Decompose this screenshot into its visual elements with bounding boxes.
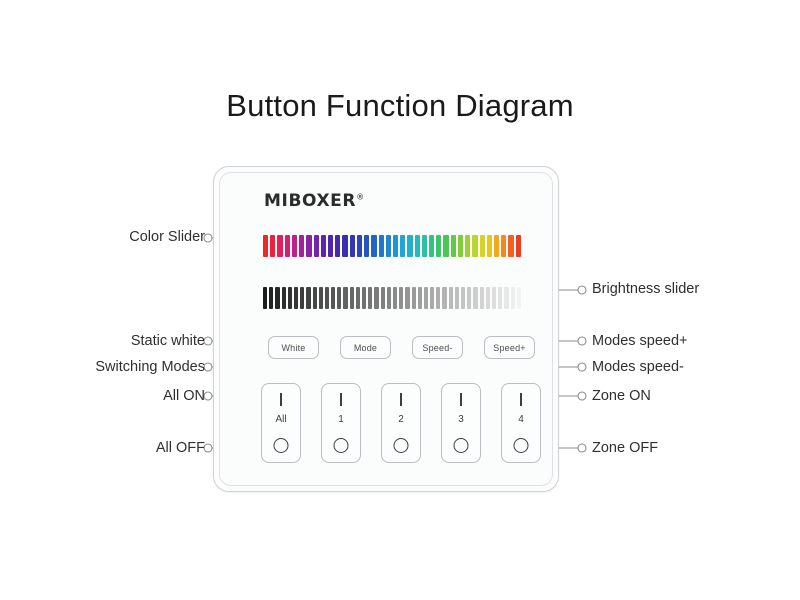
zone-button-all-label: All xyxy=(262,414,300,425)
color-slider-segment[interactable] xyxy=(494,235,499,257)
color-slider-segment[interactable] xyxy=(429,235,434,257)
brightness-slider-segment[interactable] xyxy=(517,287,521,309)
callout-modes-speed-plus: Modes speed+ xyxy=(592,333,688,349)
brightness-slider-segment[interactable] xyxy=(288,287,292,309)
brightness-slider-segment[interactable] xyxy=(313,287,317,309)
zone-button-4[interactable]: 4 xyxy=(501,383,541,463)
power-off-icon[interactable] xyxy=(274,438,289,453)
brightness-slider-segment[interactable] xyxy=(319,287,323,309)
brightness-slider-segment[interactable] xyxy=(343,287,347,309)
brightness-slider-segment[interactable] xyxy=(275,287,279,309)
brightness-slider[interactable] xyxy=(263,287,521,309)
device-panel-inner-frame: MIBOXER® White Mode Speed- Speed+ All xyxy=(219,172,553,486)
brightness-slider-segment[interactable] xyxy=(399,287,403,309)
zone-button-1[interactable]: 1 xyxy=(321,383,361,463)
color-slider-segment[interactable] xyxy=(415,235,420,257)
brightness-slider-segment[interactable] xyxy=(368,287,372,309)
brand-logo: MIBOXER® xyxy=(264,191,365,211)
brightness-slider-segment[interactable] xyxy=(480,287,484,309)
power-on-icon[interactable] xyxy=(520,393,522,406)
color-slider-segment[interactable] xyxy=(458,235,463,257)
brightness-slider-segment[interactable] xyxy=(325,287,329,309)
brightness-slider-segment[interactable] xyxy=(300,287,304,309)
callout-zone-off: Zone OFF xyxy=(592,440,658,456)
color-slider-segment[interactable] xyxy=(472,235,477,257)
power-off-icon[interactable] xyxy=(394,438,409,453)
brightness-slider-segment[interactable] xyxy=(511,287,515,309)
brightness-slider-segment[interactable] xyxy=(418,287,422,309)
color-slider-segment[interactable] xyxy=(270,235,275,257)
power-on-icon[interactable] xyxy=(400,393,402,406)
color-slider-segment[interactable] xyxy=(321,235,326,257)
brightness-slider-segment[interactable] xyxy=(381,287,385,309)
speed-minus-button[interactable]: Speed- xyxy=(412,336,463,359)
brightness-slider-segment[interactable] xyxy=(387,287,391,309)
leader-dot-color-slider xyxy=(204,234,212,242)
leader-dot-static-white xyxy=(204,337,212,345)
trademark-icon: ® xyxy=(356,192,365,201)
brightness-slider-segment[interactable] xyxy=(430,287,434,309)
power-off-icon[interactable] xyxy=(514,438,529,453)
brightness-slider-segment[interactable] xyxy=(498,287,502,309)
brightness-slider-segment[interactable] xyxy=(263,287,267,309)
brightness-slider-segment[interactable] xyxy=(455,287,459,309)
power-on-icon[interactable] xyxy=(280,393,282,406)
brightness-slider-segment[interactable] xyxy=(473,287,477,309)
brightness-slider-segment[interactable] xyxy=(331,287,335,309)
color-slider-segment[interactable] xyxy=(400,235,405,257)
callout-zone-on: Zone ON xyxy=(592,388,651,404)
callout-all-off: All OFF xyxy=(156,440,205,456)
leader-dot-zone-off xyxy=(578,444,586,452)
zone-button-3[interactable]: 3 xyxy=(441,383,481,463)
color-slider-segment[interactable] xyxy=(436,235,441,257)
color-slider-segment[interactable] xyxy=(407,235,412,257)
color-slider-segment[interactable] xyxy=(501,235,506,257)
diagram-canvas: Button Function Diagram xyxy=(0,0,800,600)
color-slider-segment[interactable] xyxy=(285,235,290,257)
color-slider-segment[interactable] xyxy=(451,235,456,257)
color-slider-segment[interactable] xyxy=(299,235,304,257)
color-slider-segment[interactable] xyxy=(357,235,362,257)
brightness-slider-segment[interactable] xyxy=(486,287,490,309)
mode-button-label: Mode xyxy=(354,343,377,353)
color-slider-segment[interactable] xyxy=(277,235,282,257)
speed-plus-button[interactable]: Speed+ xyxy=(484,336,535,359)
brightness-slider-segment[interactable] xyxy=(306,287,310,309)
color-slider-segment[interactable] xyxy=(306,235,311,257)
page-title: Button Function Diagram xyxy=(0,88,800,124)
brightness-slider-segment[interactable] xyxy=(405,287,409,309)
leader-dot-modes-speed-minus xyxy=(578,363,586,371)
brightness-slider-segment[interactable] xyxy=(350,287,354,309)
white-button[interactable]: White xyxy=(268,336,319,359)
mode-button[interactable]: Mode xyxy=(340,336,391,359)
brightness-slider-segment[interactable] xyxy=(282,287,286,309)
zone-button-3-label: 3 xyxy=(442,414,480,425)
device-panel: MIBOXER® White Mode Speed- Speed+ All xyxy=(213,166,559,492)
color-slider-segment[interactable] xyxy=(443,235,448,257)
brightness-slider-segment[interactable] xyxy=(393,287,397,309)
brightness-slider-segment[interactable] xyxy=(467,287,471,309)
brightness-slider-segment[interactable] xyxy=(449,287,453,309)
color-slider-segment[interactable] xyxy=(480,235,485,257)
zone-button-2-label: 2 xyxy=(382,414,420,425)
color-slider-segment[interactable] xyxy=(393,235,398,257)
callout-all-on: All ON xyxy=(163,388,205,404)
brightness-slider-segment[interactable] xyxy=(504,287,508,309)
callout-brightness-slider: Brightness slider xyxy=(592,281,699,297)
zone-button-4-label: 4 xyxy=(502,414,540,425)
leader-dot-brightness-slider xyxy=(578,286,586,294)
color-slider-segment[interactable] xyxy=(487,235,492,257)
brightness-slider-segment[interactable] xyxy=(362,287,366,309)
color-slider-segment[interactable] xyxy=(263,235,268,257)
brightness-slider-segment[interactable] xyxy=(461,287,465,309)
color-slider-segment[interactable] xyxy=(508,235,513,257)
callout-modes-speed-minus: Modes speed- xyxy=(592,359,684,375)
speed-plus-button-label: Speed+ xyxy=(493,343,525,353)
callout-static-white: Static white xyxy=(131,333,205,349)
brightness-slider-segment[interactable] xyxy=(412,287,416,309)
brightness-slider-segment[interactable] xyxy=(436,287,440,309)
power-off-icon[interactable] xyxy=(454,438,469,453)
color-slider-segment[interactable] xyxy=(364,235,369,257)
brightness-slider-segment[interactable] xyxy=(337,287,341,309)
brand-name: MIBOXER xyxy=(264,191,356,211)
power-on-icon[interactable] xyxy=(460,393,462,406)
leader-dot-all-off xyxy=(204,444,212,452)
color-slider[interactable] xyxy=(263,235,521,257)
leader-dot-switching-modes xyxy=(204,363,212,371)
leader-dot-zone-on xyxy=(578,392,586,400)
color-slider-segment[interactable] xyxy=(350,235,355,257)
brightness-slider-segment[interactable] xyxy=(442,287,446,309)
brightness-slider-segment[interactable] xyxy=(356,287,360,309)
brightness-slider-segment[interactable] xyxy=(492,287,496,309)
brightness-slider-segment[interactable] xyxy=(424,287,428,309)
color-slider-segment[interactable] xyxy=(386,235,391,257)
leader-dot-all-on xyxy=(204,392,212,400)
zone-button-2[interactable]: 2 xyxy=(381,383,421,463)
callout-switching-modes: Switching Modes xyxy=(95,359,205,375)
leader-dot-modes-speed-plus xyxy=(578,337,586,345)
speed-minus-button-label: Speed- xyxy=(422,343,452,353)
color-slider-segment[interactable] xyxy=(292,235,297,257)
color-slider-segment[interactable] xyxy=(465,235,470,257)
brightness-slider-segment[interactable] xyxy=(294,287,298,309)
power-on-icon[interactable] xyxy=(340,393,342,406)
white-button-label: White xyxy=(281,343,305,353)
color-slider-segment[interactable] xyxy=(371,235,376,257)
callout-color-slider: Color Slider xyxy=(129,229,205,245)
color-slider-segment[interactable] xyxy=(516,235,521,257)
color-slider-segment[interactable] xyxy=(342,235,347,257)
brightness-slider-segment[interactable] xyxy=(269,287,273,309)
color-slider-segment[interactable] xyxy=(314,235,319,257)
power-off-icon[interactable] xyxy=(334,438,349,453)
color-slider-segment[interactable] xyxy=(335,235,340,257)
zone-button-all[interactable]: All xyxy=(261,383,301,463)
brightness-slider-segment[interactable] xyxy=(374,287,378,309)
color-slider-segment[interactable] xyxy=(422,235,427,257)
zone-button-1-label: 1 xyxy=(322,414,360,425)
color-slider-segment[interactable] xyxy=(379,235,384,257)
color-slider-segment[interactable] xyxy=(328,235,333,257)
